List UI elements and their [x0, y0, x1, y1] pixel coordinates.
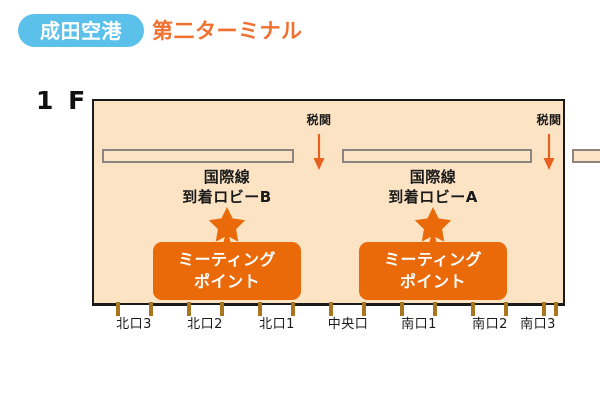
- exit-label-row: 北口3 北口2 北口1 中央口 南口1 南口2 南口3: [92, 316, 565, 336]
- meeting-point-marker-a[interactable]: ミーティング ポイント: [359, 206, 507, 300]
- exit-label-kitaguchi-2: 北口2: [187, 316, 223, 333]
- exit-label-minamiguchi-1: 南口1: [401, 316, 437, 333]
- lobby-label-a-line1: 国際線: [388, 167, 478, 187]
- door-segment: [220, 303, 258, 306]
- meeting-point-marker-b[interactable]: ミーティング ポイント: [153, 206, 301, 300]
- lobby-label-b-line2: 到着ロビーB: [182, 187, 271, 207]
- door-tick: [471, 302, 475, 316]
- customs-label-b: 税関: [306, 113, 331, 128]
- meeting-point-box-b[interactable]: ミーティング ポイント: [153, 242, 301, 300]
- terminal-name-label: 第二ターミナル: [152, 18, 303, 44]
- wall-bar-left: [102, 149, 294, 163]
- exit-label-minamiguchi-3: 南口3: [520, 316, 556, 333]
- door-tick: [542, 302, 546, 316]
- airport-name-label: 成田空港: [40, 21, 122, 41]
- page-header: 成田空港 第二ターミナル: [0, 0, 600, 62]
- door-segment: [433, 303, 471, 306]
- door-segment: [504, 303, 542, 306]
- floor-label: 1 F: [36, 87, 88, 115]
- door-tick: [116, 302, 120, 316]
- meeting-point-b-line2: ポイント: [194, 271, 260, 293]
- star-icon: [410, 206, 456, 242]
- star-icon: [204, 206, 250, 242]
- meeting-point-box-a[interactable]: ミーティング ポイント: [359, 242, 507, 300]
- door-tick: [149, 302, 153, 316]
- meeting-point-b-line1: ミーティング: [178, 249, 276, 271]
- door-segment: [149, 303, 187, 306]
- door-tick: [187, 302, 191, 316]
- customs-down-arrow-b: [312, 134, 326, 171]
- door-tick: [329, 302, 333, 316]
- door-tick: [362, 302, 366, 316]
- door-tick: [504, 302, 508, 316]
- door-tick: [291, 302, 295, 316]
- meeting-point-star-wrap-b: [153, 206, 301, 242]
- meeting-point-a-line2: ポイント: [400, 271, 466, 293]
- lobby-label-a: 国際線 到着ロビーA: [388, 167, 478, 207]
- customs-down-arrow-a: [542, 134, 556, 171]
- wall-bar-right: [572, 149, 600, 163]
- terminal-floor-map: 税関 税関 国際線 到着ロビーB 国際線 到着ロビーA ミーティング ポイント: [92, 99, 565, 305]
- door-tick: [400, 302, 404, 316]
- exit-label-minamiguchi-2: 南口2: [472, 316, 508, 333]
- door-tick: [554, 302, 558, 316]
- exit-door-axis: [92, 299, 565, 313]
- meeting-point-star-wrap-a: [359, 206, 507, 242]
- door-tick: [258, 302, 262, 316]
- wall-bar-center: [342, 149, 532, 163]
- door-segment: [362, 303, 400, 306]
- lobby-label-a-line2: 到着ロビーA: [388, 187, 478, 207]
- door-tick: [433, 302, 437, 316]
- lobby-label-b: 国際線 到着ロビーB: [182, 167, 271, 207]
- lobby-label-b-line1: 国際線: [182, 167, 271, 187]
- airport-name-badge: 成田空港: [18, 14, 144, 47]
- exit-label-kitaguchi-3: 北口3: [116, 316, 152, 333]
- door-segment: [92, 303, 116, 306]
- door-tick: [220, 302, 224, 316]
- exit-label-kitaguchi-1: 北口1: [259, 316, 295, 333]
- door-segment: [291, 303, 329, 306]
- exit-label-chuoguchi: 中央口: [328, 316, 369, 333]
- meeting-point-a-line1: ミーティング: [384, 249, 482, 271]
- customs-label-a: 税関: [536, 113, 561, 128]
